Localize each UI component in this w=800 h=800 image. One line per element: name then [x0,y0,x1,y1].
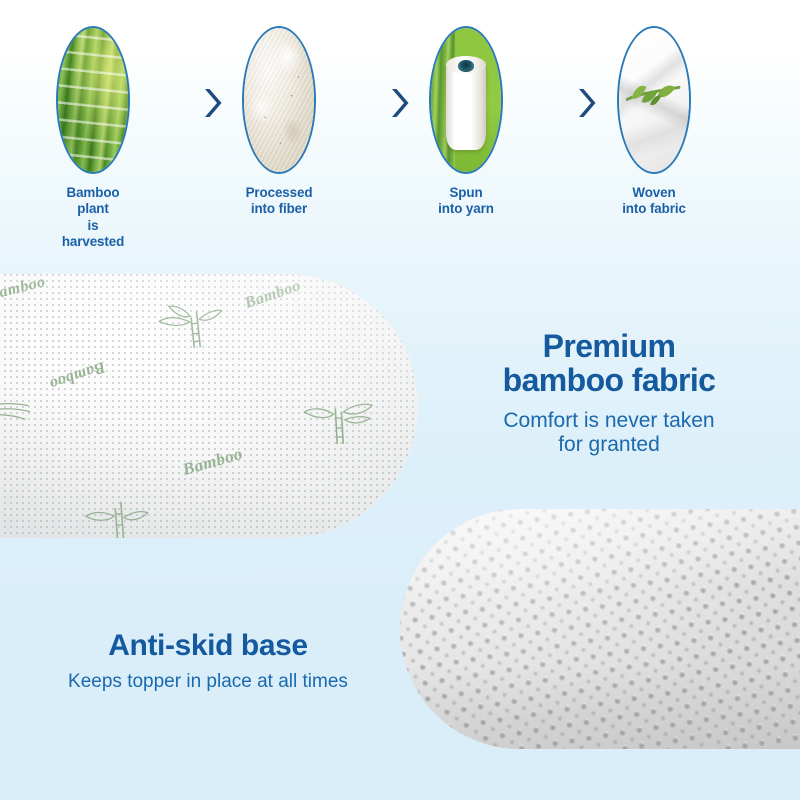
yarn-spool-shape [446,61,487,150]
process-step-image-4 [617,26,691,174]
bamboo-process-strip: Bamboo plant is harvested Processed into… [0,0,800,265]
anti-skid-headline: Anti-skid base [8,630,408,662]
process-step-bamboo-plant: Bamboo plant is harvested [56,26,130,250]
bamboo-fabric-swatch: Bamboo Bamboo Bamboo Bamboo [0,274,418,538]
woven-fabric-photo [619,28,689,172]
process-step-label-4: Woven into fabric [617,185,691,218]
bamboo-fiber-photo [244,28,314,172]
anti-skid-feature-block: Anti-skid base Keeps topper in place at … [8,630,408,693]
anti-skid-base-swatch [400,509,800,749]
process-step-image-2 [242,26,316,174]
chevron-right-icon-2 [385,86,411,120]
premium-fabric-subline: Comfort is never taken for granted [433,409,785,458]
process-step-image-1 [56,26,130,174]
process-step-processed-fiber: Processed into fiber [242,26,316,218]
process-step-label-3: Spun into yarn [429,185,503,218]
premium-fabric-feature-block: Premium bamboo fabric Comfort is never t… [433,330,785,458]
process-step-spun-yarn: Spun into yarn [429,26,503,218]
skid-shading-layer [400,509,800,749]
process-step-woven-fabric: Woven into fabric [617,26,691,218]
premium-fabric-headline: Premium bamboo fabric [433,330,785,398]
bamboo-grove-photo [58,28,128,172]
process-step-image-3 [429,26,503,174]
chevron-right-icon-1 [198,86,224,120]
bamboo-sprig-icon [623,80,685,112]
chevron-right-icon-3 [572,86,598,120]
process-step-label-1: Bamboo plant is harvested [56,185,130,250]
process-step-label-2: Processed into fiber [242,185,316,218]
anti-skid-subline: Keeps topper in place at all times [8,671,408,693]
product-infographic: Bamboo plant is harvested Processed into… [0,0,800,800]
yarn-spool-photo [431,28,501,172]
fabric-shading-layer [0,274,418,538]
